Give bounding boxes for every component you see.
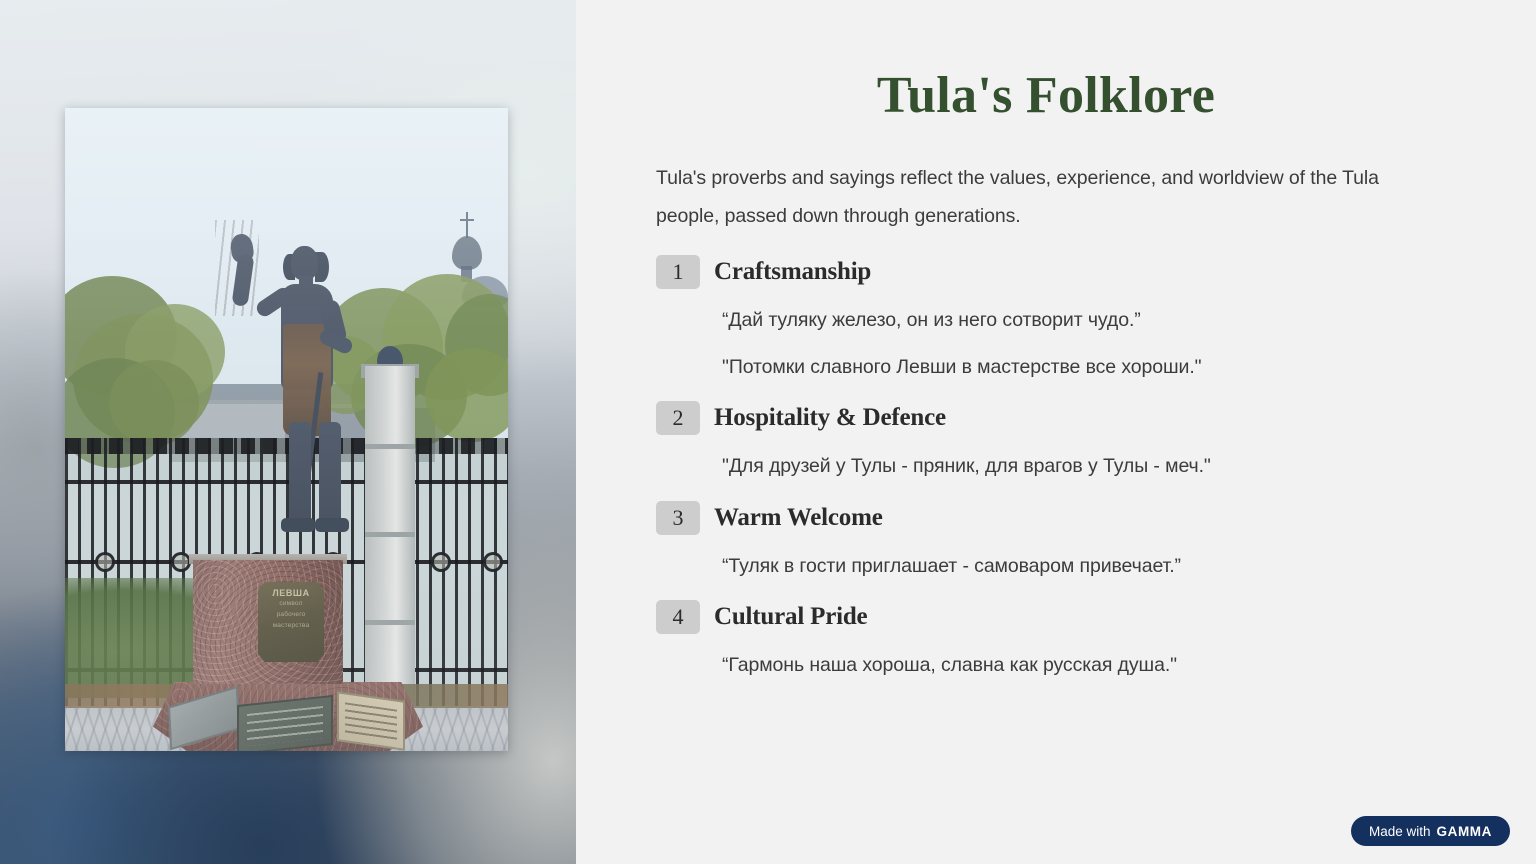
proverb: “Гармонь наша хороша, славна как русская… [722, 650, 1436, 681]
list-item-header: 3 Warm Welcome [656, 501, 1436, 535]
list-item-title: Warm Welcome [714, 504, 883, 532]
fence-medallion [171, 552, 191, 572]
church-cross-icon [466, 212, 468, 238]
list-item: 4 Cultural Pride “Гармонь наша хороша, с… [656, 600, 1436, 681]
folklore-list: 1 Craftsmanship “Дай туляку железо, он и… [656, 255, 1436, 685]
content-panel: Tula's Folklore Tula's proverbs and sayi… [576, 0, 1536, 864]
tree-left-5 [109, 360, 199, 446]
plaque-line-2: символ [279, 600, 302, 609]
plaque-line-3: рабочего [277, 611, 306, 620]
list-item-title: Craftsmanship [714, 258, 871, 286]
fence-medallion [431, 552, 451, 572]
list-item-number: 4 [656, 600, 700, 634]
image-panel: ЛЕВША символ рабочего мастерства [0, 0, 576, 864]
slide: ЛЕВША символ рабочего мастерства [0, 0, 1536, 864]
church-cross-bar-icon [460, 219, 474, 221]
list-item-quotes: “Туляк в гости приглашает - самоваром пр… [656, 551, 1436, 582]
gate-pillar-band [365, 620, 415, 625]
list-item: 3 Warm Welcome “Туляк в гости приглашает… [656, 501, 1436, 582]
statue-head [291, 246, 318, 280]
proverb: "Для друзей у Тулы - пряник, для врагов … [722, 451, 1436, 482]
plaque-title: ЛЕВША [272, 589, 309, 598]
list-item-header: 1 Craftsmanship [656, 255, 1436, 289]
list-item-quotes: “Дай туляку железо, он из него сотворит … [656, 305, 1436, 383]
badge-prefix-label: Made with [1369, 824, 1431, 839]
list-item-number: 1 [656, 255, 700, 289]
plaque-line-4: мастерства [273, 622, 310, 631]
proverb: “Туляк в гости приглашает - самоваром пр… [722, 551, 1436, 582]
levsha-monument-photo: ЛЕВША символ рабочего мастерства [65, 108, 508, 751]
church-dome [452, 236, 482, 270]
list-item-quotes: "Для друзей у Тулы - пряник, для врагов … [656, 451, 1436, 482]
made-with-gamma-badge[interactable]: Made with GAMMA [1351, 816, 1510, 846]
page-title: Tula's Folklore [656, 66, 1436, 125]
fence-medallion [483, 552, 503, 572]
levsha-statue [215, 220, 385, 564]
fence-medallion [95, 552, 115, 572]
list-item-title: Cultural Pride [714, 603, 867, 631]
statue-boot-right [315, 518, 349, 532]
statue-leg-left [289, 422, 311, 526]
list-item-number: 2 [656, 401, 700, 435]
proverb: "Потомки славного Левши в мастерстве все… [722, 352, 1436, 383]
list-item-header: 2 Hospitality & Defence [656, 401, 1436, 435]
list-item-title: Hospitality & Defence [714, 404, 946, 432]
badge-brand-label: GAMMA [1437, 824, 1493, 839]
list-item-header: 4 Cultural Pride [656, 600, 1436, 634]
list-item: 2 Hospitality & Defence "Для друзей у Ту… [656, 401, 1436, 482]
statue-leg-right [319, 422, 341, 526]
statue-boot-left [281, 518, 315, 532]
levsha-plaque: ЛЕВША символ рабочего мастерства [258, 582, 324, 662]
list-item: 1 Craftsmanship “Дай туляку железо, он и… [656, 255, 1436, 383]
list-item-quotes: “Гармонь наша хороша, славна как русская… [656, 650, 1436, 681]
proverb: “Дай туляку железо, он из него сотворит … [722, 305, 1436, 336]
intro-paragraph: Tula's proverbs and sayings reflect the … [656, 159, 1436, 235]
list-item-number: 3 [656, 501, 700, 535]
